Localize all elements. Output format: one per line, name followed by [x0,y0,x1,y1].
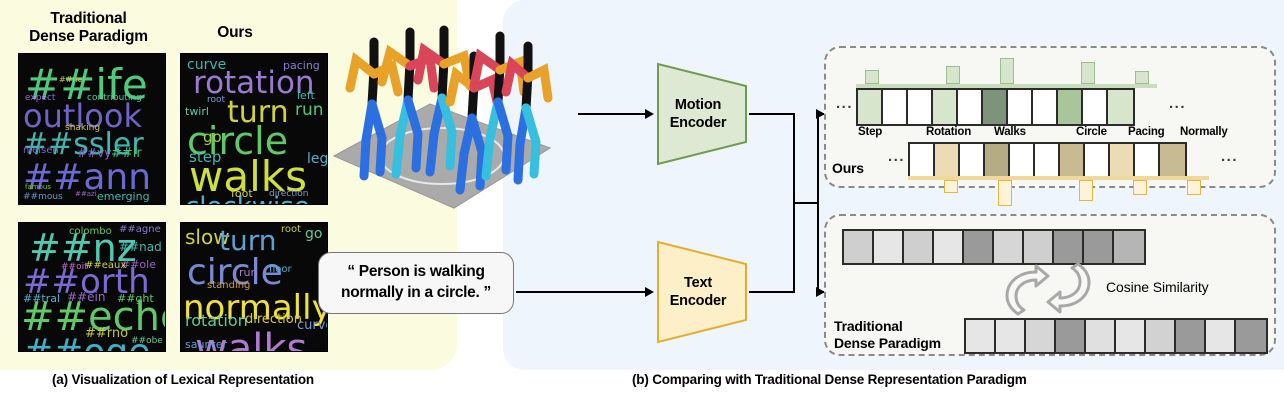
wire-split-vertical [817,113,819,293]
token-cell [1085,144,1110,178]
ours-box-label: Ours [832,160,864,177]
wordcloud-word: ##nad [119,241,162,253]
wire-text-out [749,291,795,293]
token-activation-bar [946,66,960,84]
wordcloud-traditional-top: ##ifeoutlook##ssler##ann##vy##lrexpectco… [18,53,166,205]
dense-vector-cell [934,231,964,263]
token-activation-bar [1081,62,1095,84]
wordcloud-ours-top: rotationturncirclewalksclockwisecurvepac… [180,53,328,205]
wordcloud-word: root [281,225,301,235]
text-encoder-label-line1: Text [684,274,712,292]
wordcloud-word: twirl [185,106,209,117]
token-cell [1108,90,1133,124]
dense-vector-cell [1026,320,1056,352]
wordcloud-word: colombo [69,227,112,237]
token-label-pacing: Pacing [1128,126,1165,138]
wordcloud-word: go [203,130,222,145]
token-activation-bar [865,70,879,84]
traditional-motion-vector [842,229,1146,265]
wordcloud-word: ##eaux [85,261,126,271]
dense-vector-cell [844,231,874,263]
wordcloud-ours-bottom: slowturncirclenormallywalkspacingrootgor… [180,222,328,352]
wordcloud-word: ##azi [75,191,97,198]
token-activation-bar [998,180,1012,206]
wordcloud-word: foot [231,188,253,199]
token-cell [958,90,983,124]
dense-vector-cell [1056,320,1086,352]
wordcloud-word: go [305,227,322,241]
caption-panel-a: (a) Visualization of Lexical Representat… [52,372,314,387]
token-cell [883,90,908,124]
wordcloud-word: rotation [185,313,248,329]
text-encoder-label-line2: Encoder [670,292,727,310]
wordcloud-word: direction [269,190,308,199]
wordcloud-word: curve [187,58,226,72]
token-cell [1033,90,1058,124]
wordcloud-word: expect [25,94,55,103]
wordcloud-word: emerging [97,191,150,202]
token-label-normally: Normally [1180,126,1228,138]
wordcloud-traditional-bottom: ##nz##orth##eche##ogecolombo##agne##nad#… [18,222,166,352]
wordcloud-word: ##oit [61,263,88,272]
arrow-text-in-head [645,287,654,297]
wire-motion-in [578,113,646,115]
wordcloud-word: pacing [283,60,320,71]
token-cell [1135,144,1160,178]
dense-vector-cell [1114,231,1144,263]
token-activation-bar [1079,180,1093,201]
token-cell [985,144,1010,178]
dense-vector-cell [1176,320,1206,352]
token-label-circle: Circle [1076,126,1107,138]
wordcloud-word: ##obe [131,337,163,346]
token-cell [1008,90,1033,124]
ours-motion-token-row [856,88,1135,126]
wordcloud-word: run [239,267,257,278]
token-activation-bar [1133,180,1147,195]
wire-text-in [516,291,646,293]
traditional-box-label: Traditional Dense Paradigm [834,318,941,352]
wordcloud-word: ##mous [23,193,63,202]
ours-text-right-ellipsis: ... [1221,148,1238,165]
wordcloud-word: run [295,102,324,119]
token-cell [935,144,960,178]
dense-vector-cell [996,320,1026,352]
dense-vector-cell [1116,320,1146,352]
token-label-rotation: Rotation [926,126,971,138]
wordcloud-word: floor [269,265,292,275]
wordcloud-word: standing [207,281,250,291]
token-cell [933,90,958,124]
token-cell [910,144,935,178]
ours-text-left-ellipsis: ... [888,148,905,165]
wordcloud-word: ##rno [85,327,128,340]
arrow-motion-in-head [645,109,654,119]
dense-vector-cell [874,231,904,263]
wire-motion-out [749,113,795,115]
wordcloud-word: saunter [185,339,227,350]
traditional-text-vector [964,318,1268,354]
motion-sequence-visualization [322,8,562,220]
wordcloud-word: ##agne [119,225,161,235]
token-label-walks: Walks [994,126,1026,138]
token-cell [1010,144,1035,178]
cosine-similarity-icon [1002,258,1094,320]
wordcloud-word: famous [25,184,51,191]
token-cell [983,90,1008,124]
token-activation-bar [1135,71,1149,84]
dense-vector-cell [1086,320,1116,352]
token-cell [1035,144,1060,178]
wordcloud-word: ##nel [59,76,85,84]
prompt-text: “ Person is walking normally in a circle… [341,262,491,304]
token-cell [1060,144,1085,178]
wordcloud-word: left [297,90,315,101]
wordcloud-word: nielsen [23,146,59,156]
wordcloud-word: ##vy [77,147,111,159]
ours-motion-right-ellipsis: ... [1169,95,1186,112]
wordcloud-word: step [189,150,221,165]
wordcloud-word: ##ght [117,293,154,304]
dense-vector-cell [966,320,996,352]
token-activation-bar [1187,180,1201,195]
wordcloud-word: ##tral [23,293,60,304]
token-cell [908,90,933,124]
motion-encoder-label-line1: Motion [675,96,721,114]
wordcloud-title-traditional: Traditional Dense Paradigm [16,10,161,46]
token-cell [960,144,985,178]
token-cell [1160,144,1185,178]
caption-panel-b: (b) Comparing with Traditional Dense Rep… [632,372,1027,387]
wordcloud-title-ours: Ours [180,24,290,42]
dense-vector-cell [1206,320,1236,352]
wordcloud-word: curve [297,319,328,332]
token-activation-bar [1000,58,1014,84]
token-activation-bar [944,180,958,193]
wordcloud-word: direction [245,313,302,326]
token-cell [1083,90,1108,124]
text-prompt-bubble: “ Person is walking normally in a circle… [318,252,514,314]
wordcloud-word: ##lr [111,147,142,160]
token-cell [1058,90,1083,124]
wordcloud-word: ##ein [67,291,105,303]
wire-merge-horizontal [793,202,819,204]
dense-vector-cell [1236,320,1266,352]
token-label-step: Step [858,126,882,138]
token-cell [1110,144,1135,178]
dense-vector-cell [1146,320,1176,352]
motion-encoder-block[interactable]: Motion Encoder [655,62,749,166]
token-cell [858,90,883,124]
wordcloud-word: contributing [87,94,142,103]
wordcloud-word: turn [219,227,277,255]
dense-vector-cell [904,231,934,263]
dense-vector-cell [964,231,994,263]
ours-motion-left-ellipsis: ... [836,95,853,112]
cosine-similarity-label: Cosine Similarity [1106,279,1209,295]
text-encoder-block[interactable]: Text Encoder [655,240,749,344]
ours-text-token-row [908,142,1187,180]
wordcloud-word: root [207,96,225,105]
wordcloud-word: shaking [65,124,100,133]
motion-encoder-label-line2: Encoder [670,114,727,132]
